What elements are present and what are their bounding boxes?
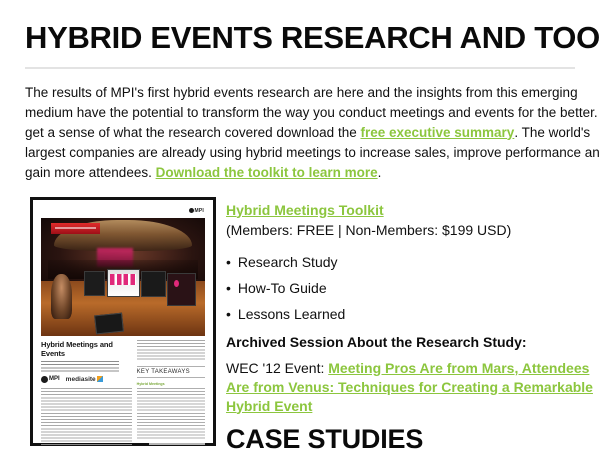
report-cover-photo	[41, 218, 205, 336]
list-item: •Research Study	[226, 249, 600, 275]
toolkit-contents-list: •Research Study •How-To Guide •Lessons L…	[226, 249, 600, 327]
list-item-label: How-To Guide	[238, 280, 327, 296]
report-cover-right-column: KEY TAKEAWAYS Hybrid Meetings	[137, 340, 205, 446]
report-authors-lines	[41, 361, 119, 372]
archived-session-heading: Archived Session About the Research Stud…	[226, 334, 600, 350]
wec-event-prefix: WEC '12 Event:	[226, 360, 328, 376]
toolkit-price-label: (Members: FREE | Non-Members: $199 USD)	[226, 222, 600, 238]
photo-operator	[51, 274, 72, 319]
key-takeaways-heading: KEY TAKEAWAYS	[137, 366, 205, 378]
mediasite-swatch-icon	[97, 376, 103, 382]
bullet-icon: •	[226, 306, 231, 322]
mpi-logo-text: MPI	[195, 208, 205, 214]
list-item-label: Lessons Learned	[238, 306, 345, 322]
photo-tablet	[94, 312, 124, 333]
list-item: •Lessons Learned	[226, 301, 600, 327]
list-item-label: Research Study	[238, 254, 338, 270]
bullet-icon: •	[226, 280, 231, 296]
report-cover-header: MPI	[41, 207, 205, 218]
intro-line-5: gain more attendees. Download the toolki…	[25, 163, 600, 183]
list-item: •How-To Guide	[226, 275, 600, 301]
report-right-text-lines	[137, 340, 205, 361]
report-cover-page: MPI Hybrid Meetings and Events	[41, 207, 205, 437]
hybrid-meetings-toolkit-link[interactable]: Hybrid Meetings Toolkit	[226, 202, 384, 218]
report-cover-left-column: Hybrid Meetings and Events MPI mediasite	[41, 340, 132, 446]
mpi-brand-text: MPI	[49, 376, 60, 382]
report-cover-body: Hybrid Meetings and Events MPI mediasite…	[41, 336, 205, 446]
report-body-text-lines	[41, 388, 132, 446]
intro-line-4: largest companies are already using hybr…	[25, 143, 600, 163]
report-logos: MPI mediasite	[41, 376, 132, 383]
photo-monitor-3	[141, 271, 166, 298]
title-divider	[25, 67, 575, 69]
photo-monitor-2	[107, 269, 140, 297]
mpi-brand-logo-icon: MPI	[41, 376, 60, 383]
intro-line-1: The results of MPI's first hybrid events…	[25, 83, 600, 103]
mpi-logo-icon: MPI	[189, 208, 205, 214]
photo-banner-badge	[51, 223, 100, 234]
intro-line-2: medium have the potential to transform t…	[25, 103, 600, 123]
bullet-icon: •	[226, 254, 231, 270]
report-title: Hybrid Meetings and Events	[41, 340, 132, 358]
toolkit-column: Hybrid Meetings Toolkit (Members: FREE |…	[226, 197, 600, 455]
archived-session-entry: WEC '12 Event: Meeting Pros Are from Mar…	[226, 359, 598, 416]
report-footer-rule	[149, 443, 205, 445]
intro-line-3-tail: . The world's	[514, 125, 590, 140]
content-area: MPI Hybrid Meetings and Events	[0, 197, 600, 455]
intro-paragraph: The results of MPI's first hybrid events…	[25, 83, 600, 183]
photo-monitor-4	[167, 273, 195, 306]
download-toolkit-link[interactable]: Download the toolkit to learn more	[156, 165, 378, 180]
page-header: HYBRID EVENTS RESEARCH AND TOOLS	[0, 0, 600, 55]
free-executive-summary-link[interactable]: free executive summary	[360, 125, 514, 140]
page-title: HYBRID EVENTS RESEARCH AND TOOLS	[25, 22, 575, 55]
mediasite-brand-logo: mediasite	[66, 376, 103, 383]
report-cover-thumbnail[interactable]: MPI Hybrid Meetings and Events	[30, 197, 216, 446]
intro-line-3-text: get a sense of what the research covered…	[25, 125, 360, 140]
photo-monitor-1	[84, 271, 106, 297]
key-takeaways-subheading: Hybrid Meetings	[137, 382, 205, 386]
key-takeaways-list-lines	[137, 388, 205, 440]
intro-line-5-text: gain more attendees.	[25, 165, 156, 180]
mediasite-brand-text: mediasite	[66, 376, 96, 383]
intro-line-5-tail: .	[378, 165, 382, 180]
intro-line-3: get a sense of what the research covered…	[25, 123, 600, 143]
